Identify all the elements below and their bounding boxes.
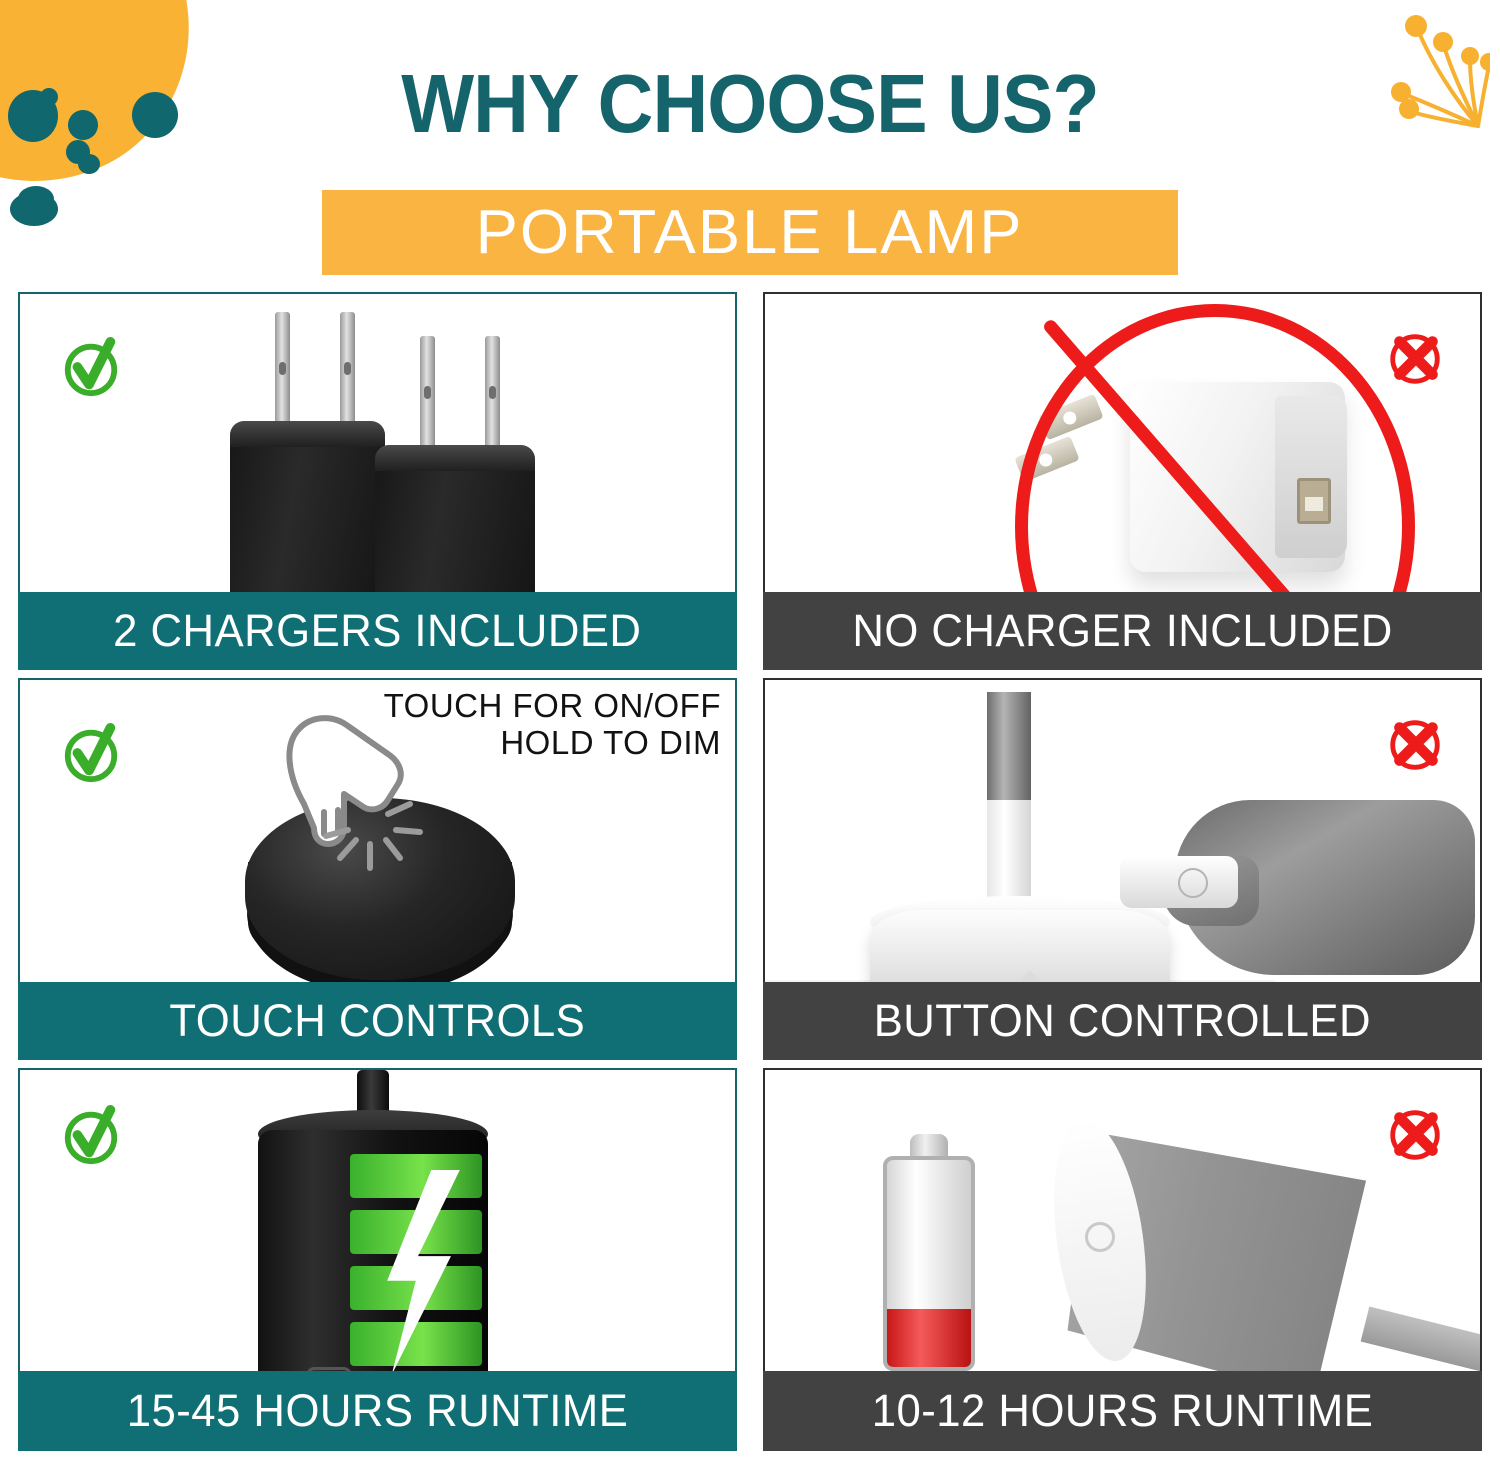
card-label: NO CHARGER INCLUDED — [852, 605, 1392, 657]
card-chargers-included: 2 CHARGERS INCLUDED — [18, 292, 737, 670]
touch-instruction-line-1: TOUCH FOR ON/OFF — [384, 688, 721, 725]
card-label-bar: 15-45 HOURS RUNTIME — [18, 1371, 737, 1451]
card-label: TOUCH CONTROLS — [170, 995, 586, 1047]
green-check-icon — [60, 336, 122, 398]
card-label-bar: 2 CHARGERS INCLUDED — [18, 592, 737, 670]
touch-instruction-overlay: TOUCH FOR ON/OFF HOLD TO DIM — [384, 688, 721, 762]
card-image-low-battery-lamp — [763, 1068, 1482, 1371]
battery-level-bar — [350, 1322, 482, 1366]
card-no-charger-included: NO CHARGER INCLUDED — [763, 292, 1482, 670]
teal-dot-decoration — [10, 192, 58, 226]
inline-cord-switch — [1120, 856, 1238, 908]
lamp-base-body — [258, 1130, 488, 1371]
lamp-pole-dark — [987, 692, 1031, 804]
plug-prong — [275, 312, 290, 430]
black-charger-body — [375, 446, 535, 592]
plug-prong — [420, 336, 435, 454]
grid-gap — [18, 670, 737, 678]
comparison-grid: 2 CHARGERS INCLUDED NO CHARGER INCLUDED — [18, 292, 1482, 1483]
card-long-runtime: 15-45 HOURS RUNTIME — [18, 1068, 737, 1451]
card-label: BUTTON CONTROLLED — [874, 995, 1371, 1047]
card-label-bar: NO CHARGER INCLUDED — [763, 592, 1482, 670]
card-label: 15-45 HOURS RUNTIME — [127, 1385, 629, 1437]
green-check-icon — [60, 1104, 122, 1166]
green-check-icon — [60, 722, 122, 784]
card-label-bar: TOUCH CONTROLS — [18, 982, 737, 1060]
usb-c-port-icon — [306, 1367, 352, 1371]
battery-level-bar — [350, 1154, 482, 1198]
touch-instruction-line-2: HOLD TO DIM — [384, 725, 721, 762]
charger-top-face — [230, 421, 385, 447]
card-label-bar: 10-12 HOURS RUNTIME — [763, 1371, 1482, 1451]
battery-low-fill — [887, 1309, 971, 1367]
card-short-runtime: 10-12 HOURS RUNTIME — [763, 1068, 1482, 1451]
card-label: 10-12 HOURS RUNTIME — [872, 1385, 1374, 1437]
card-image-battery-lamp — [18, 1068, 737, 1371]
grid-gap — [18, 1060, 737, 1068]
teal-dot-decoration — [8, 90, 58, 142]
card-image-chargers — [18, 292, 737, 592]
battery-lamp-illustration — [20, 1070, 735, 1371]
black-charger-body — [230, 422, 385, 592]
card-button-controlled: BUTTON CONTROLLED — [763, 678, 1482, 1060]
low-battery-lamp-illustration — [765, 1070, 1480, 1371]
teal-dot-decoration — [78, 154, 100, 174]
power-cord — [1361, 1307, 1482, 1371]
charger-top-face — [375, 445, 535, 471]
red-cross-icon — [1384, 328, 1446, 390]
card-image-touch-lamp: TOUCH FOR ON/OFF HOLD TO DIM — [18, 678, 737, 982]
page-title: WHY CHOOSE US? — [53, 62, 1448, 145]
card-label-bar: BUTTON CONTROLLED — [763, 982, 1482, 1060]
card-touch-controls: TOUCH FOR ON/OFF HOLD TO DIM TOUCH CONTR… — [18, 678, 737, 1060]
low-battery-icon — [883, 1156, 975, 1371]
plug-prong — [340, 312, 355, 430]
grid-gap — [763, 1060, 1482, 1068]
power-button-icon — [1085, 1222, 1115, 1252]
red-cross-icon — [1384, 1104, 1446, 1166]
corded-lamp-illustration — [765, 680, 1480, 982]
card-image-button-lamp — [763, 678, 1482, 982]
red-cross-icon — [1384, 714, 1446, 776]
card-image-no-charger — [763, 292, 1482, 592]
subtitle-text: PORTABLE LAMP — [476, 202, 1024, 264]
card-label: 2 CHARGERS INCLUDED — [113, 605, 641, 657]
subtitle-banner: PORTABLE LAMP — [322, 190, 1178, 275]
two-chargers-illustration — [20, 294, 735, 592]
white-charger-illustration — [765, 294, 1480, 592]
grid-gap — [763, 670, 1482, 678]
plug-prong — [485, 336, 500, 454]
